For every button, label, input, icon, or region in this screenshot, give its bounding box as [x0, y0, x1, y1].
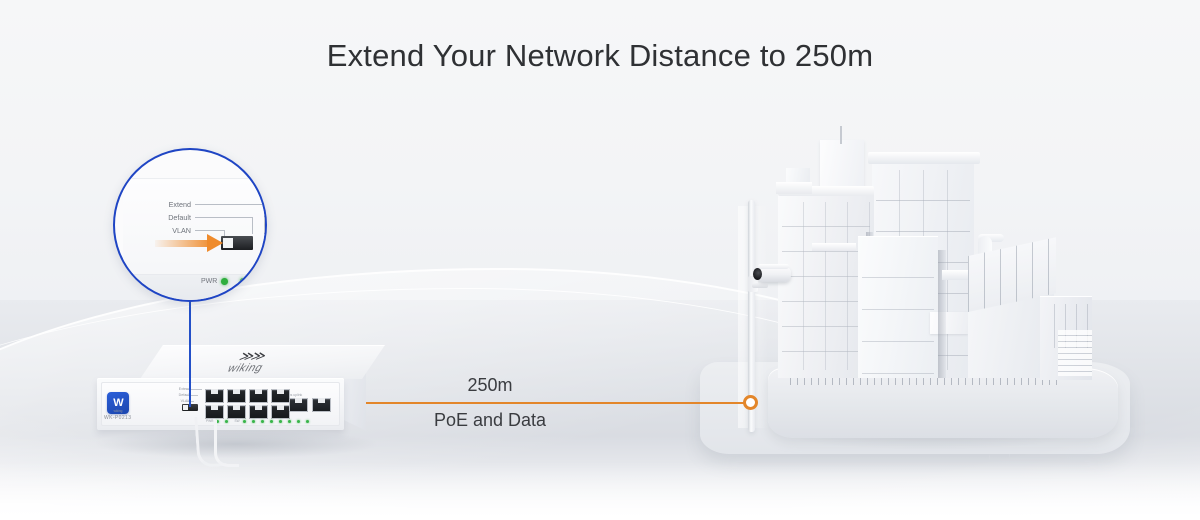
uplink-port[interactable] — [312, 398, 331, 412]
uplink-port-group — [289, 398, 331, 412]
port-led-icon — [270, 420, 273, 423]
port-led-icon — [261, 420, 264, 423]
poe-port[interactable] — [249, 389, 268, 403]
camera-sunshade — [758, 264, 789, 269]
callout-leader-drop-1 — [264, 204, 265, 234]
callout-leader-3 — [195, 230, 225, 231]
page-title: Extend Your Network Distance to 250m — [0, 38, 1200, 74]
brand-logo-subtext: wiking — [104, 409, 132, 413]
arrow-head — [207, 234, 223, 252]
brand-chevron-icon: ≫≫ — [237, 350, 268, 363]
switch-model-label: WK-P0213 — [104, 415, 131, 421]
poe-port[interactable] — [271, 389, 290, 403]
callout-led-row: PWR SW 1 — [201, 278, 267, 285]
port-led-icon — [279, 420, 282, 423]
scene-root: Extend Your Network Distance to 250m — [0, 0, 1200, 520]
callout-dip-label-extend: Extend — [129, 200, 191, 209]
callout-led-label-pwr: PWR — [201, 278, 217, 285]
poe-port[interactable] — [227, 405, 246, 419]
dip-switch-slider[interactable] — [183, 405, 188, 410]
arrow-shaft — [155, 240, 213, 247]
poe-port-row — [205, 389, 290, 403]
camera-lens — [753, 268, 762, 280]
callout-dip-label-default: Default — [129, 213, 191, 222]
link-node-camera — [743, 395, 758, 410]
port-led-icon — [288, 420, 291, 423]
link-type-label: PoE and Data — [395, 410, 585, 431]
callout-content: Extend Default VLAN 8 x 10/100 Mbps PoE — [115, 150, 265, 300]
rooftop-antenna — [840, 126, 842, 144]
port-led-icon — [252, 420, 255, 423]
callout-leader-1 — [195, 204, 265, 205]
port-led-icon — [297, 420, 300, 423]
poe-port[interactable] — [249, 405, 268, 419]
callout-pwr-led-icon — [221, 278, 228, 285]
callout-sw-led-icon — [240, 278, 247, 285]
brand-name-top: wiking — [225, 362, 266, 375]
uplink-port[interactable] — [289, 398, 308, 412]
highlight-arrow-icon — [155, 234, 235, 252]
exterior-stairs — [1058, 330, 1092, 376]
dip-leader-2 — [186, 395, 198, 396]
rooftop-ledge — [776, 182, 812, 194]
switch-top-brand: ≫≫ wiking — [201, 349, 296, 376]
port-led-icon — [306, 420, 309, 423]
poe-port[interactable] — [227, 389, 246, 403]
tower-middle-floors — [862, 246, 934, 374]
brand-logo-letter: W — [113, 397, 122, 409]
callout-panel-top-edge — [123, 178, 267, 179]
link-distance-label: 250m — [400, 375, 580, 396]
poe-port[interactable] — [271, 405, 290, 419]
callout-leader-2 — [195, 217, 253, 218]
camera-arm — [752, 283, 768, 288]
poe-port[interactable] — [205, 389, 224, 403]
tower-left-windows — [782, 202, 870, 370]
port-led-icon — [243, 420, 246, 423]
tower-rear-roof — [868, 152, 980, 164]
callout-leader-drop-2 — [252, 217, 253, 234]
facade-sign — [930, 312, 968, 334]
tower-middle-canopy — [812, 243, 856, 251]
ethernet-cable-2 — [214, 420, 239, 467]
scene-bottom-fade — [0, 462, 1200, 520]
callout-connector-line — [189, 295, 191, 407]
dip-switch-callout: Extend Default VLAN 8 x 10/100 Mbps PoE — [113, 148, 267, 302]
